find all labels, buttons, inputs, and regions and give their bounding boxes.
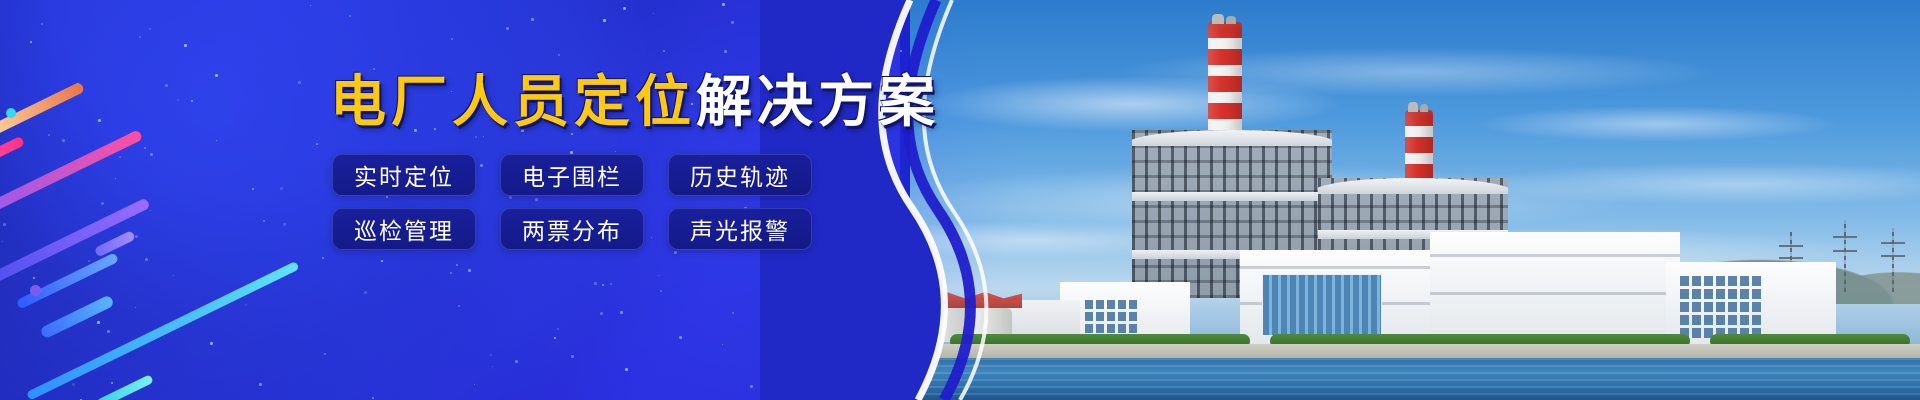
chimney-cap xyxy=(1226,16,1236,24)
transmission-pylon xyxy=(1844,220,1846,292)
building-band xyxy=(1240,266,1440,269)
feature-pill-inspection-management[interactable]: 巡检管理 xyxy=(332,208,476,250)
office-window-grid xyxy=(1680,276,1761,338)
feature-pill-two-ticket-distribution[interactable]: 两票分布 xyxy=(500,208,644,250)
transmission-pylon xyxy=(1892,228,1894,292)
chimney-cap xyxy=(1212,14,1224,24)
feature-pill-electronic-fence[interactable]: 电子围栏 xyxy=(500,154,644,196)
chimney-cap xyxy=(1420,104,1428,112)
feature-pill-group: 实时定位 电子围栏 历史轨迹 巡检管理 两票分布 声光报警 xyxy=(332,154,812,262)
building-band xyxy=(1430,254,1680,257)
feature-pill-realtime-location[interactable]: 实时定位 xyxy=(332,154,476,196)
chimney-cap xyxy=(1408,102,1418,112)
banner-content: 电厂人员定位解决方案 实时定位 电子围栏 历史轨迹 巡检管理 两票分布 声光报警 xyxy=(0,0,900,400)
glass-curtain-wall xyxy=(1262,274,1382,336)
boiler-roof xyxy=(1318,178,1508,194)
feature-pill-row: 实时定位 电子围栏 历史轨迹 xyxy=(332,154,812,196)
headline-rest: 解决方案 xyxy=(696,70,940,133)
page-title: 电厂人员定位解决方案 xyxy=(330,74,940,130)
building-band xyxy=(1430,292,1680,295)
feature-pill-history-track[interactable]: 历史轨迹 xyxy=(668,154,812,196)
feature-pill-row: 巡检管理 两票分布 声光报警 xyxy=(332,208,812,250)
feature-pill-audible-visual-alarm[interactable]: 声光报警 xyxy=(668,208,812,250)
solution-banner: 电厂人员定位解决方案 实时定位 电子围栏 历史轨迹 巡检管理 两票分布 声光报警 xyxy=(0,0,1920,400)
headline-highlight: 电厂人员定位 xyxy=(330,70,696,133)
